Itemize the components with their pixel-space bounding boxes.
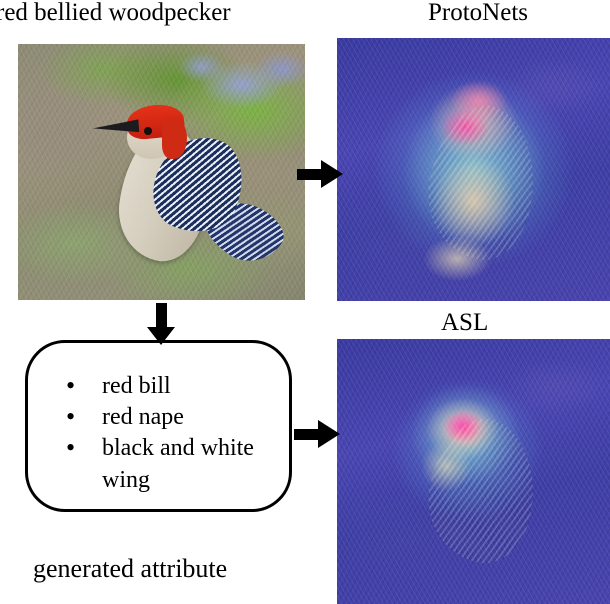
arrow-right-icon bbox=[294, 420, 342, 449]
asl-attention-heatmap bbox=[337, 339, 610, 604]
arrow-head bbox=[321, 160, 343, 188]
list-item: red nape bbox=[58, 402, 289, 433]
arrow-right-icon bbox=[297, 160, 345, 189]
arrow-head bbox=[318, 420, 340, 448]
protonets-attention-heatmap bbox=[337, 38, 610, 301]
class-name-label: red bellied woodpecker bbox=[0, 0, 231, 25]
heatmap-activation-overlay bbox=[337, 38, 610, 301]
arrow-shaft bbox=[297, 169, 323, 180]
arrow-shaft bbox=[156, 303, 167, 329]
list-item: red bill bbox=[58, 371, 289, 402]
heatmap-activation-overlay bbox=[337, 339, 610, 604]
generated-attribute-caption: generated attribute bbox=[33, 556, 227, 582]
list-item: black and white wing bbox=[58, 433, 289, 495]
protonets-label: ProtoNets bbox=[428, 0, 528, 25]
generated-attribute-box: red bill red nape black and white wing bbox=[25, 340, 292, 512]
input-image bbox=[18, 44, 305, 300]
bird-eye bbox=[144, 127, 151, 135]
attribute-list: red bill red nape black and white wing bbox=[28, 343, 289, 496]
arrow-down-icon bbox=[147, 303, 176, 343]
arrow-shaft bbox=[294, 429, 320, 440]
asl-label: ASL bbox=[441, 310, 488, 335]
arrow-head bbox=[147, 327, 175, 345]
